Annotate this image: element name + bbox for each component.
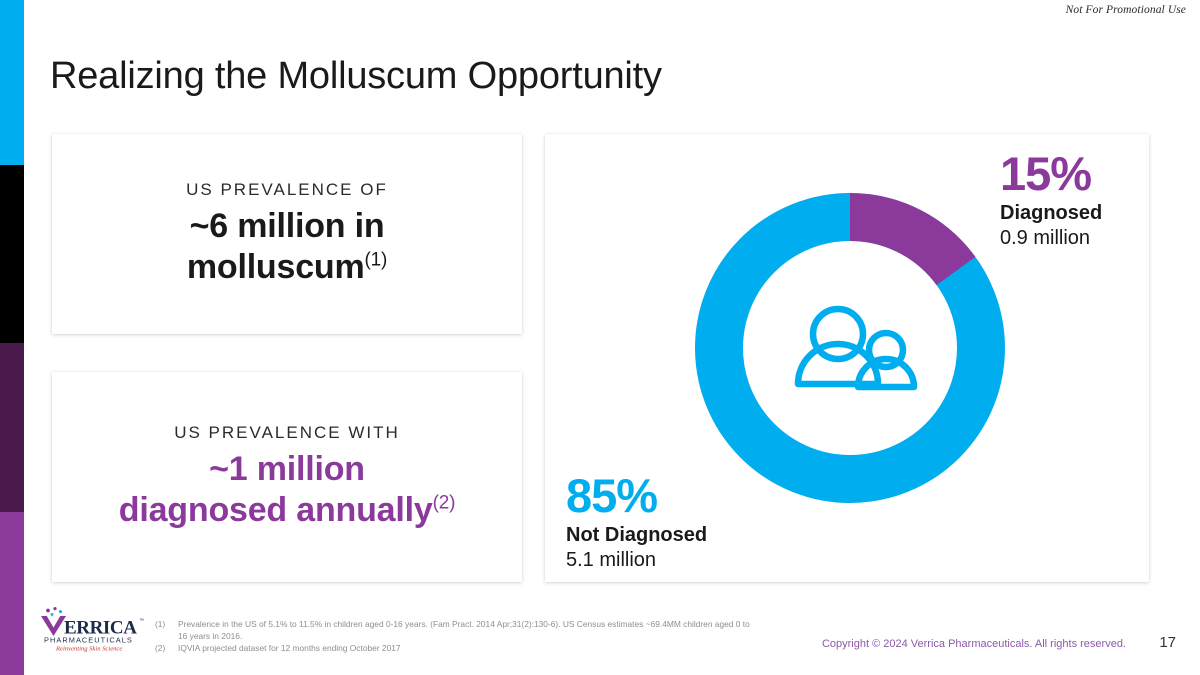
donut-chart [690,188,1010,508]
donut-chart-svg [690,188,1010,508]
footnotes: (1) Prevalence in the US of 5.1% to 11.5… [155,618,755,655]
footnote-mark: (1) [155,618,171,642]
copyright-text: Copyright © 2024 Verrica Pharmaceuticals… [822,638,1126,650]
stat-card-kicker: US PREVALENCE OF [186,180,388,200]
rail-band-cyan [0,0,24,165]
rail-band-purple [0,512,24,675]
stat-footnote-ref: (1) [365,250,388,271]
rail-band-dark-purple [0,343,24,512]
logo-v-mark [41,616,66,636]
people-icon [798,309,914,387]
footnote-item: (2) IQVIA projected dataset for 12 month… [155,642,755,654]
stat-card-value: ~1 million diagnosed annually(2) [119,449,455,531]
logo-dot [51,613,54,616]
callout-percent: 15% [1000,150,1102,197]
donut-slice-diagnosed [850,217,956,271]
logo-dot [46,609,50,613]
logo-dot [53,607,56,610]
verrica-logo-svg: ERRICA ™ PHARMACEUTICALS Reinventing Ski… [36,606,148,652]
stat-card-value: ~6 million in molluscum(1) [187,206,387,288]
callout-percent: 85% [566,472,707,519]
stat-line-2: molluscum [187,248,365,286]
verrica-logo: ERRICA ™ PHARMACEUTICALS Reinventing Ski… [36,606,148,652]
stat-footnote-ref: (2) [433,493,456,514]
callout-label: Diagnosed [1000,201,1102,226]
footnote-text: IQVIA projected dataset for 12 months en… [178,642,755,654]
logo-tagline: Reinventing Skin Science [55,646,122,653]
page-title: Realizing the Molluscum Opportunity [50,55,662,98]
stat-line-2: diagnosed annually [119,491,433,529]
stat-card-diagnosed: US PREVALENCE WITH ~1 million diagnosed … [52,372,522,582]
page-number: 17 [1159,634,1176,651]
logo-dot [59,610,62,613]
callout-value: 0.9 million [1000,226,1102,251]
stat-line-1: ~1 million [209,450,365,488]
callout-not-diagnosed: 85% Not Diagnosed 5.1 million [566,472,707,573]
callout-value: 5.1 million [566,548,707,573]
footnote-text: Prevalence in the US of 5.1% to 11.5% in… [178,618,755,642]
stat-line-1: ~6 million in [190,207,385,245]
logo-subtitle: PHARMACEUTICALS [44,636,133,645]
logo-trademark: ™ [139,618,144,624]
callout-label: Not Diagnosed [566,523,707,548]
stat-card-kicker: US PREVALENCE WITH [174,423,400,443]
rail-band-black [0,165,24,343]
footnote-item: (1) Prevalence in the US of 5.1% to 11.5… [155,618,755,642]
callout-diagnosed: 15% Diagnosed 0.9 million [1000,150,1102,251]
promotional-notice: Not For Promotional Use [1066,4,1186,16]
stat-card-prevalence: US PREVALENCE OF ~6 million in molluscum… [52,134,522,334]
footnote-mark: (2) [155,642,171,654]
left-color-rail [0,0,24,675]
